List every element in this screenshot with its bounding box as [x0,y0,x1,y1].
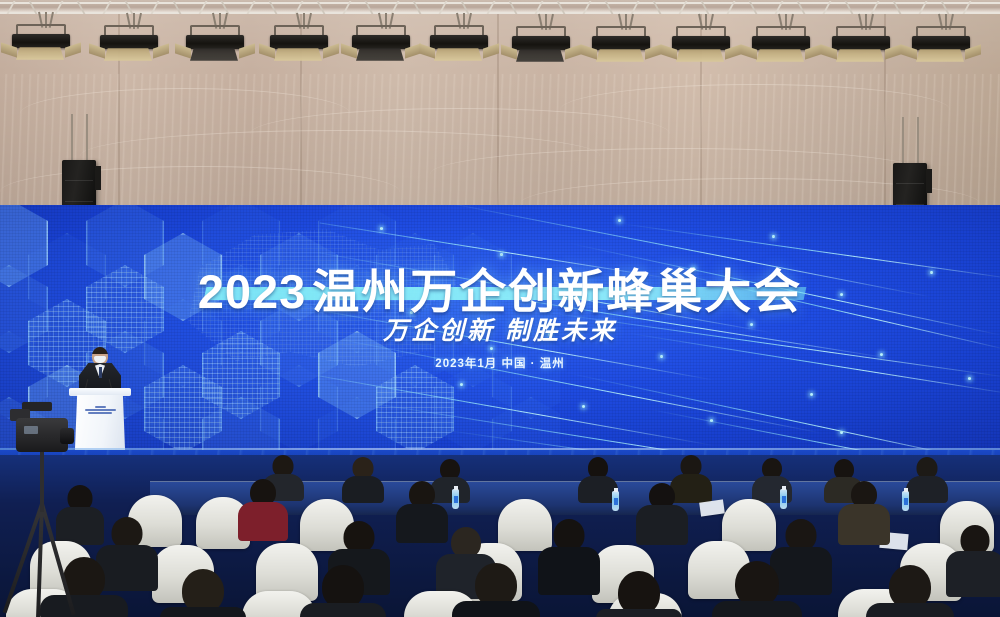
audience-person [452,563,540,617]
audience-person [596,571,682,617]
stage-light-icon [672,26,730,68]
stage-light-icon [832,26,890,68]
stage-light-icon [752,26,810,68]
stage-light-icon [912,26,970,68]
stage-light-icon [186,25,244,67]
podium-top [69,388,131,396]
podium-plaque [82,402,118,417]
audience-person [538,519,600,595]
audience-person [906,457,948,503]
video-camera-icon [4,418,74,617]
audience-person [838,481,890,545]
ceiling-truss [0,0,1000,15]
audience-person [300,565,386,617]
podium-plaque-line-2 [85,409,116,411]
stage-light-icon [352,25,410,67]
stage-light-icon [270,25,328,67]
audience-person [636,483,688,545]
audience-person [866,565,954,617]
conference-hall-photo: 2023温州万企创新蜂巢大会 万企创新 制胜未来 2023年1月 中国 · 温州… [0,0,1000,617]
audience-person [946,525,1000,597]
stage-light-icon [512,26,570,68]
water-bottle-icon [780,489,787,509]
audience-person [238,479,288,541]
water-bottle-icon [612,491,619,511]
presenter-tie [99,367,103,378]
podium-plaque-line-1 [95,406,106,408]
audience-person [712,561,802,617]
wall-drape-texture [0,74,1000,206]
audience-person [160,569,246,617]
stage-light-icon [430,25,488,67]
led-subtitle: 万企创新 制胜未来 [0,311,1000,347]
audience-person [342,457,384,503]
stage-light-icon [592,26,650,68]
water-bottle-icon [452,489,459,509]
audience-area [0,455,1000,617]
stage-light-icon [12,24,70,66]
podium-plaque-line-3 [88,412,112,414]
led-backdrop-screen: 2023温州万企创新蜂巢大会 万企创新 制胜未来 2023年1月 中国 · 温州 [0,205,1000,453]
water-bottle-icon [902,491,909,511]
led-dateline: 2023年1月 中国 · 温州 [0,355,1000,371]
stage-light-icon [100,25,158,67]
